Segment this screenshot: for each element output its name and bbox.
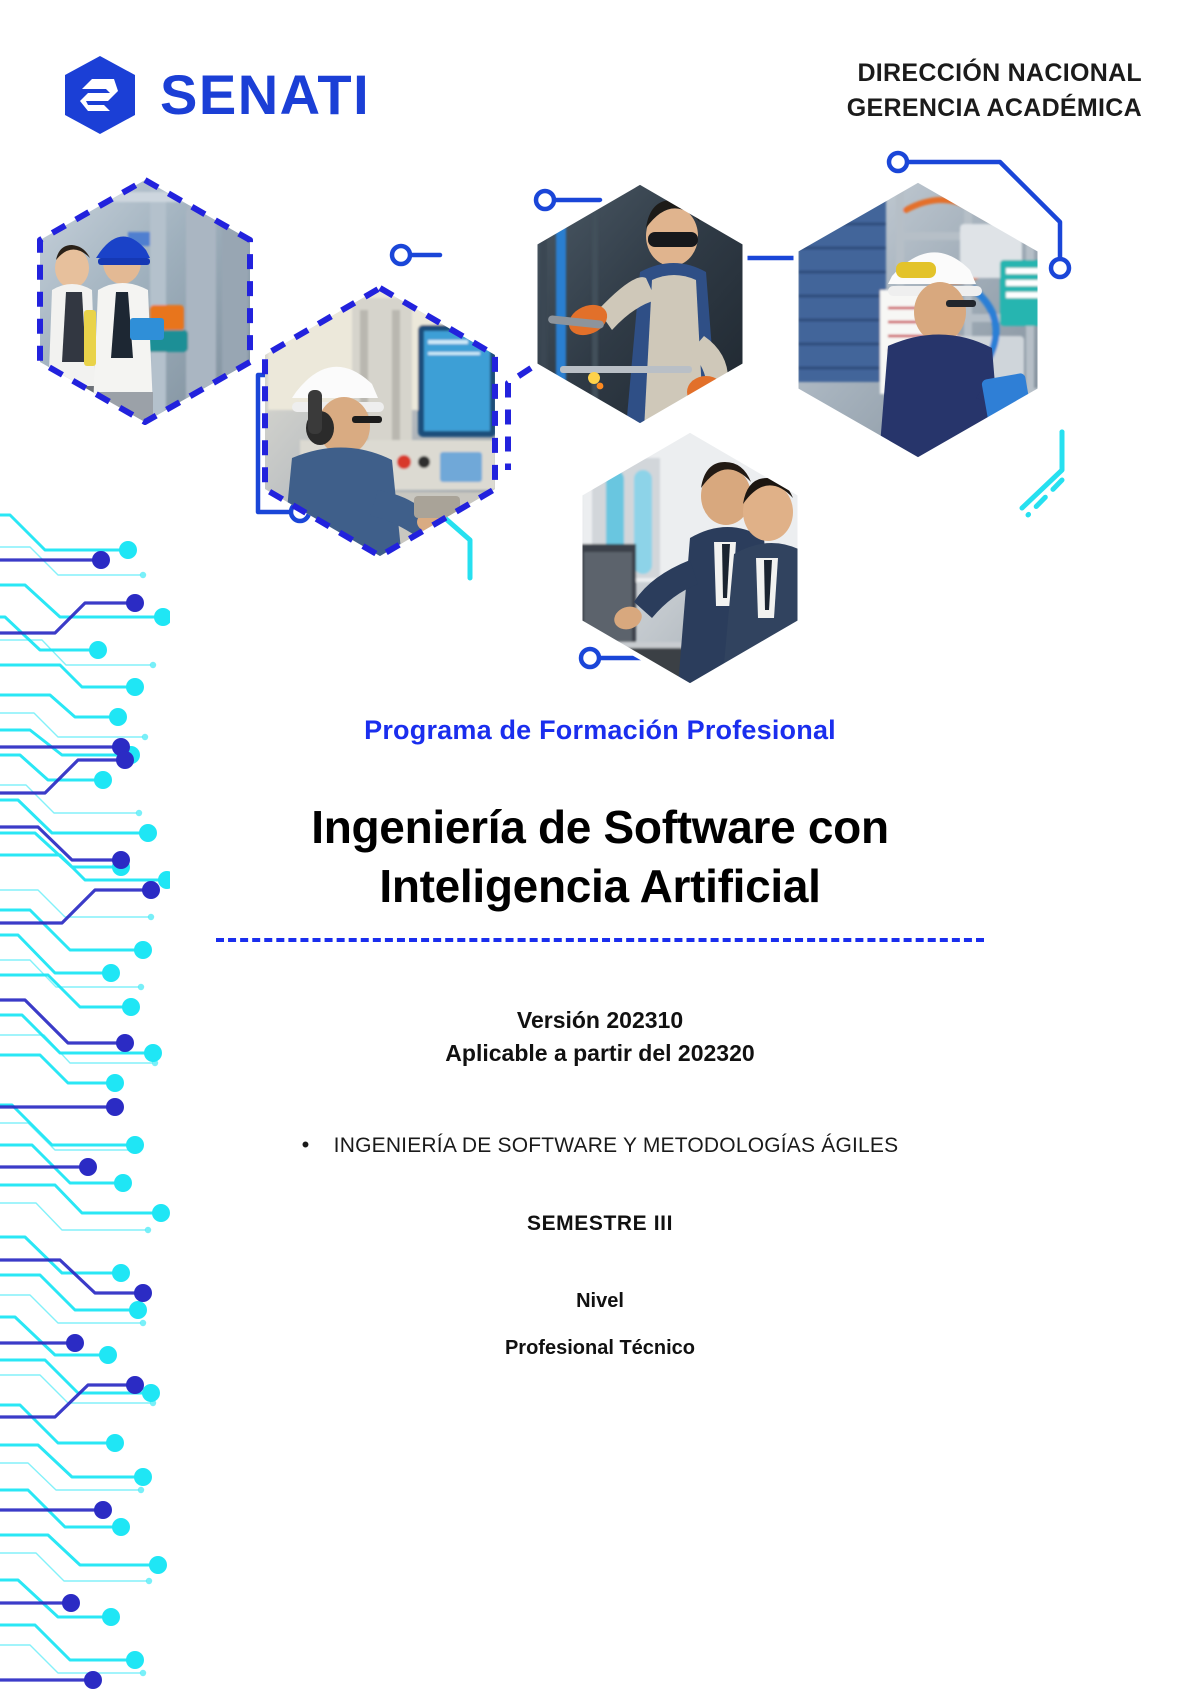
hex-welding-student [535, 182, 747, 430]
applicable-text: Aplicable a partir del 202320 [0, 1037, 1200, 1070]
list-item: INGENIERÍA DE SOFTWARE Y METODOLOGÍAS ÁG… [0, 1134, 1200, 1158]
page-title: Ingeniería de Software con Inteligencia … [0, 798, 1200, 916]
hex-students-instrumentation [40, 180, 252, 436]
course-item-label: INGENIERÍA DE SOFTWARE Y METODOLOGÍAS ÁG… [302, 1134, 899, 1158]
semester-label: SEMESTRE III [0, 1212, 1200, 1236]
department-line-1: DIRECCIÓN NACIONAL [847, 56, 1142, 91]
senati-hexagon-logo-icon [62, 55, 138, 135]
title-line-1: Ingeniería de Software con [0, 798, 1200, 857]
department-heading: DIRECCIÓN NACIONAL GERENCIA ACADÉMICA [847, 56, 1142, 125]
level-label: Nivel [0, 1290, 1200, 1313]
level-value: Profesional Técnico [0, 1337, 1200, 1360]
title-line-2: Inteligencia Artificial [0, 857, 1200, 916]
hex-computer-lab [580, 430, 820, 686]
program-label: Programa de Formación Profesional [0, 715, 1200, 746]
hexagon-photo-collage [0, 140, 1200, 700]
course-list: INGENIERÍA DE SOFTWARE Y METODOLOGÍAS ÁG… [0, 1134, 1200, 1158]
department-line-2: GERENCIA ACADÉMICA [847, 91, 1142, 126]
version-text: Versión 202310 [0, 1004, 1200, 1037]
hex-process-plant [796, 180, 1052, 470]
document-page: SENATI DIRECCIÓN NACIONAL GERENCIA ACADÉ… [0, 0, 1200, 1698]
senati-logo: SENATI [62, 55, 370, 135]
dashed-divider [216, 938, 984, 942]
senati-wordmark: SENATI [160, 67, 370, 123]
cover-title-block: Programa de Formación Profesional Ingeni… [0, 700, 1200, 1360]
page-header: SENATI DIRECCIÓN NACIONAL GERENCIA ACADÉ… [0, 0, 1200, 160]
version-block: Versión 202310 Aplicable a partir del 20… [0, 1004, 1200, 1071]
